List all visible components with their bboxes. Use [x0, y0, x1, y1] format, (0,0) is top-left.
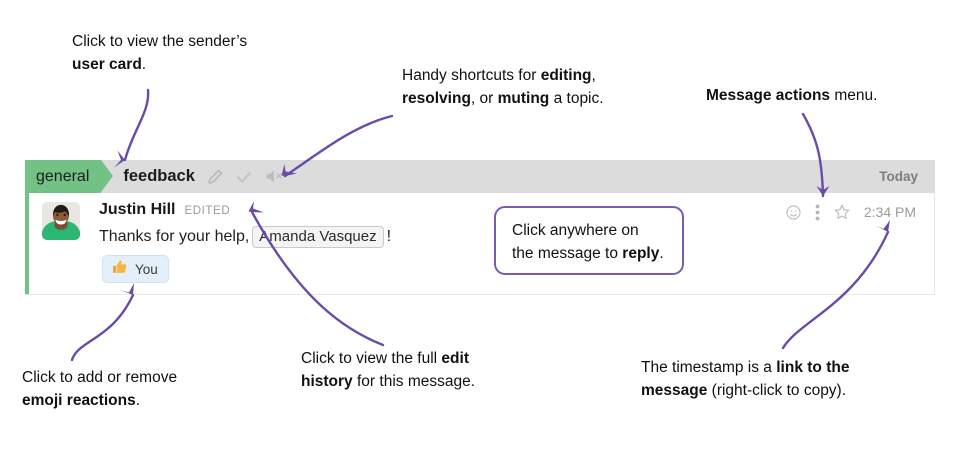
- emoji-reaction-pill[interactable]: You: [102, 255, 169, 283]
- stream-label: general: [36, 168, 89, 186]
- callout-time-p1: The timestamp is a: [641, 359, 776, 376]
- callout-emoji-bold: emoji reactions: [22, 392, 136, 409]
- edited-badge[interactable]: EDITED: [184, 205, 230, 217]
- callout-shortcuts-p3: , or: [471, 90, 498, 107]
- topic-name[interactable]: feedback: [123, 167, 195, 186]
- edit-topic-icon[interactable]: [207, 168, 224, 185]
- emoji-reaction-icon[interactable]: [785, 204, 802, 221]
- message-text-after: !: [387, 228, 391, 246]
- sender-name[interactable]: Justin Hill: [99, 201, 175, 219]
- callout-user-card: Click to view the sender’s user card.: [72, 30, 332, 76]
- callout-time-b2: message: [641, 382, 707, 399]
- reaction-label: You: [135, 262, 158, 277]
- message-text: Thanks for your help, Amanda Vasquez !: [99, 226, 391, 248]
- message-text-before: Thanks for your help,: [99, 228, 249, 246]
- message-action-icons: 2:34 PM: [785, 203, 916, 221]
- annotated-screenshot: general feedback: [0, 0, 960, 451]
- callout-emoji-line1: Click to add or remove: [22, 366, 262, 389]
- topic-action-icons: [207, 168, 283, 186]
- callout-message-actions: Message actions menu.: [706, 84, 956, 107]
- callout-time-b1: link to the: [776, 359, 849, 376]
- callout-reply-tail: .: [659, 245, 663, 262]
- mute-topic-icon[interactable]: [264, 168, 283, 185]
- date-label: Today: [879, 169, 918, 184]
- callout-shortcuts: Handy shortcuts for editing, resolving, …: [402, 64, 667, 110]
- star-message-icon[interactable]: [833, 203, 851, 221]
- callout-edit-history: Click to view the full edit history for …: [301, 347, 541, 393]
- callout-shortcuts-p4: a topic.: [549, 90, 603, 107]
- callout-reply-bold: reply: [622, 245, 659, 262]
- callout-shortcuts-b3: muting: [498, 90, 550, 107]
- thumbs-up-icon: [111, 258, 128, 280]
- resolve-topic-icon[interactable]: [235, 168, 253, 186]
- callout-reply-line2: the message to: [512, 245, 622, 262]
- callout-shortcuts-b2: resolving: [402, 90, 471, 107]
- callout-edit-b1: edit: [441, 350, 469, 367]
- callout-time-p2: (right-click to copy).: [707, 382, 846, 399]
- callout-shortcuts-b1: editing: [541, 67, 592, 84]
- callout-user-card-line1: Click to view the sender’s: [72, 30, 332, 53]
- callout-message-actions-bold: Message actions: [706, 87, 830, 104]
- message-actions-menu-icon[interactable]: [815, 204, 820, 221]
- callout-user-card-bold: user card: [72, 56, 142, 73]
- stream-topic-bar: general feedback: [25, 160, 935, 193]
- callout-emoji-tail: .: [136, 392, 140, 409]
- avatar[interactable]: [42, 202, 80, 240]
- callout-reply-box: Click anywhere on the message to reply.: [494, 206, 684, 275]
- callout-message-actions-plain: menu.: [830, 87, 877, 104]
- arrow-emoji-reactions: [72, 295, 133, 360]
- callout-timestamp-link: The timestamp is a link to the message (…: [641, 356, 951, 402]
- callout-edit-b2: history: [301, 373, 353, 390]
- sender-line: Justin Hill EDITED: [99, 201, 230, 219]
- arrow-user-card: [125, 90, 148, 160]
- callout-user-card-tail: .: [142, 56, 146, 73]
- message-row[interactable]: Justin Hill EDITED Thanks for your help,…: [29, 193, 935, 294]
- callout-emoji-reactions: Click to add or remove emoji reactions.: [22, 366, 262, 412]
- stream-tag[interactable]: general: [25, 160, 101, 193]
- mention-pill[interactable]: Amanda Vasquez: [252, 226, 383, 248]
- stream-color-bar: [25, 193, 29, 294]
- callout-shortcuts-p1: Handy shortcuts for: [402, 67, 541, 84]
- callout-shortcuts-p2: ,: [592, 67, 596, 84]
- callout-edit-p1: Click to view the full: [301, 350, 441, 367]
- message-timestamp[interactable]: 2:34 PM: [864, 204, 916, 220]
- callout-edit-p2: for this message.: [353, 373, 475, 390]
- callout-reply-line1: Click anywhere on: [512, 219, 682, 242]
